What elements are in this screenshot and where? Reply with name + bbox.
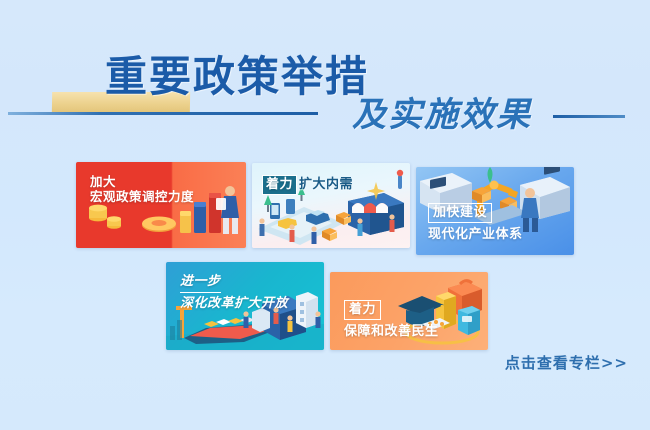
banner-title-line1: 重要政策举措 <box>105 56 369 98</box>
card-reform-line1: 进一步 <box>180 274 221 293</box>
card-macro-line2: 宏观政策调控力度 <box>90 189 194 204</box>
title-rule-left <box>8 112 318 115</box>
card-industry-line2: 现代化产业体系 <box>428 227 523 243</box>
title-rule-right <box>553 115 625 118</box>
card-reform-line2: 深化改革扩大开放 <box>180 296 288 312</box>
card-expand-demand[interactable]: 着力扩大内需 <box>252 163 410 248</box>
card-macro-policy[interactable]: 加大 宏观政策调控力度 <box>76 162 246 248</box>
card-industry-caption: 加快建设 现代化产业体系 <box>428 203 523 243</box>
card-reform-caption: 进一步 深化改革扩大开放 <box>180 274 288 312</box>
policy-banner: 重要政策举措 及实施效果 <box>0 0 650 430</box>
card-welfare-caption: 着力 保障和改善民生 <box>344 300 439 340</box>
card-welfare-line2: 保障和改善民生 <box>344 324 439 340</box>
card-demand-line2: 扩大内需 <box>299 177 353 192</box>
card-macro-line1: 加大 <box>90 174 194 189</box>
card-demand-caption: 着力扩大内需 <box>262 175 353 195</box>
card-improve-welfare[interactable]: 着力 保障和改善民生 <box>330 272 488 350</box>
card-demand-line1: 着力 <box>262 175 297 195</box>
view-column-link[interactable]: 点击查看专栏>> <box>505 352 628 373</box>
banner-title-line2: 及实施效果 <box>352 98 532 132</box>
card-welfare-line1: 着力 <box>344 300 381 320</box>
card-macro-caption: 加大 宏观政策调控力度 <box>90 174 194 205</box>
card-deepen-reform[interactable]: 进一步 深化改革扩大开放 <box>166 262 324 350</box>
card-industry-line1: 加快建设 <box>428 203 492 223</box>
card-modern-industry[interactable]: 加快建设 现代化产业体系 <box>416 167 574 255</box>
banner-title-block: 重要政策举措 及实施效果 <box>0 52 650 144</box>
